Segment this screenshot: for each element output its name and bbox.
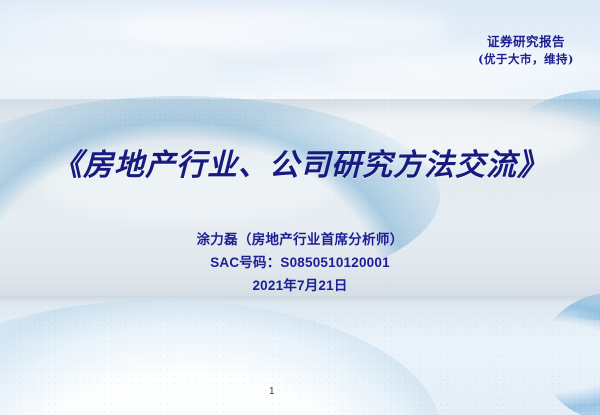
brush-arc-bottom-right bbox=[356, 276, 600, 415]
byline-block: 涂力磊（房地产行业首席分析师） SAC号码：S0850510120001 202… bbox=[0, 228, 600, 294]
report-type-label: 证券研究报告 bbox=[478, 33, 574, 51]
cloud-wisp bbox=[120, 6, 450, 52]
background-band-bottom bbox=[0, 296, 600, 415]
report-header: 证券研究报告 (优于大市，维持) bbox=[478, 33, 574, 68]
page-number: 1 bbox=[269, 386, 275, 397]
sac-code: SAC号码：S0850510120001 bbox=[0, 251, 600, 271]
presentation-date: 2021年7月21日 bbox=[0, 274, 600, 294]
brush-arc-far-right bbox=[540, 292, 600, 415]
brush-arc-bottom-right bbox=[432, 322, 600, 415]
title-slide: 证券研究报告 (优于大市，维持) 《房地产行业、公司研究方法交流》 涂力磊（房地… bbox=[0, 0, 600, 415]
page-title: 《房地产行业、公司研究方法交流》 bbox=[0, 140, 600, 184]
analyst-name: 涂力磊（房地产行业首席分析师） bbox=[0, 228, 600, 248]
brush-arc-bottom-right bbox=[392, 300, 600, 415]
cloud-wisp bbox=[0, 52, 220, 86]
rating-label: (优于大市，维持) bbox=[478, 51, 574, 68]
brush-arc-bottom-left bbox=[0, 300, 440, 415]
